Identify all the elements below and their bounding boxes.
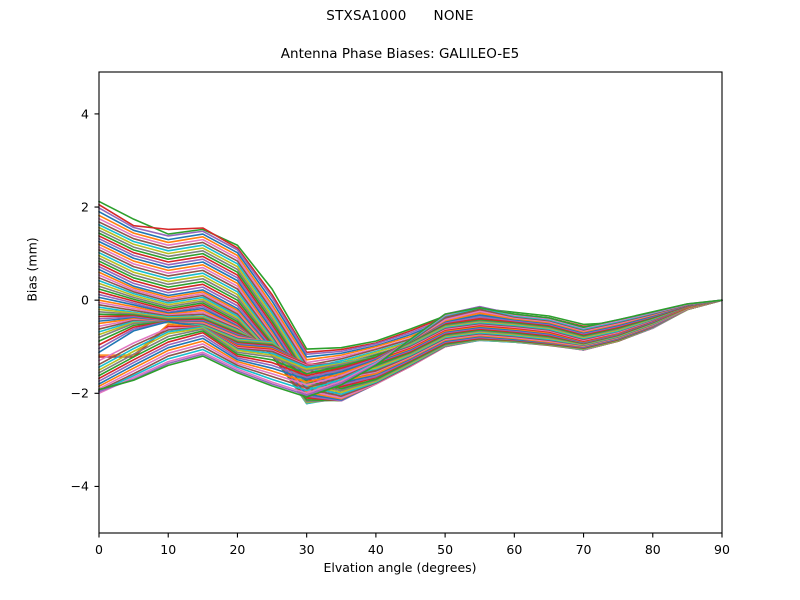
x-tick-label: 80	[645, 542, 661, 557]
x-tick-label: 20	[229, 542, 245, 557]
x-tick-label: 10	[160, 542, 176, 557]
figure-canvas: STXSA1000 NONE Antenna Phase Biases: GAL…	[0, 0, 800, 600]
x-tick-label: 40	[368, 542, 384, 557]
x-tick-label: 60	[506, 542, 522, 557]
x-tick-label: 50	[437, 542, 453, 557]
x-tick-label: 30	[299, 542, 315, 557]
x-tick-label: 90	[714, 542, 730, 557]
plot-area	[0, 0, 800, 600]
y-tick-label: 0	[57, 293, 89, 308]
x-tick-label: 0	[95, 542, 103, 557]
y-axis-label: Bias (mm)	[25, 200, 40, 340]
x-axis-label: Elvation angle (degrees)	[0, 560, 800, 575]
y-tick-label: −2	[57, 386, 89, 401]
y-tick-label: 4	[57, 106, 89, 121]
y-tick-label: 2	[57, 200, 89, 215]
series-group	[99, 201, 722, 403]
y-tick-label: −4	[57, 479, 89, 494]
x-tick-label: 70	[576, 542, 592, 557]
